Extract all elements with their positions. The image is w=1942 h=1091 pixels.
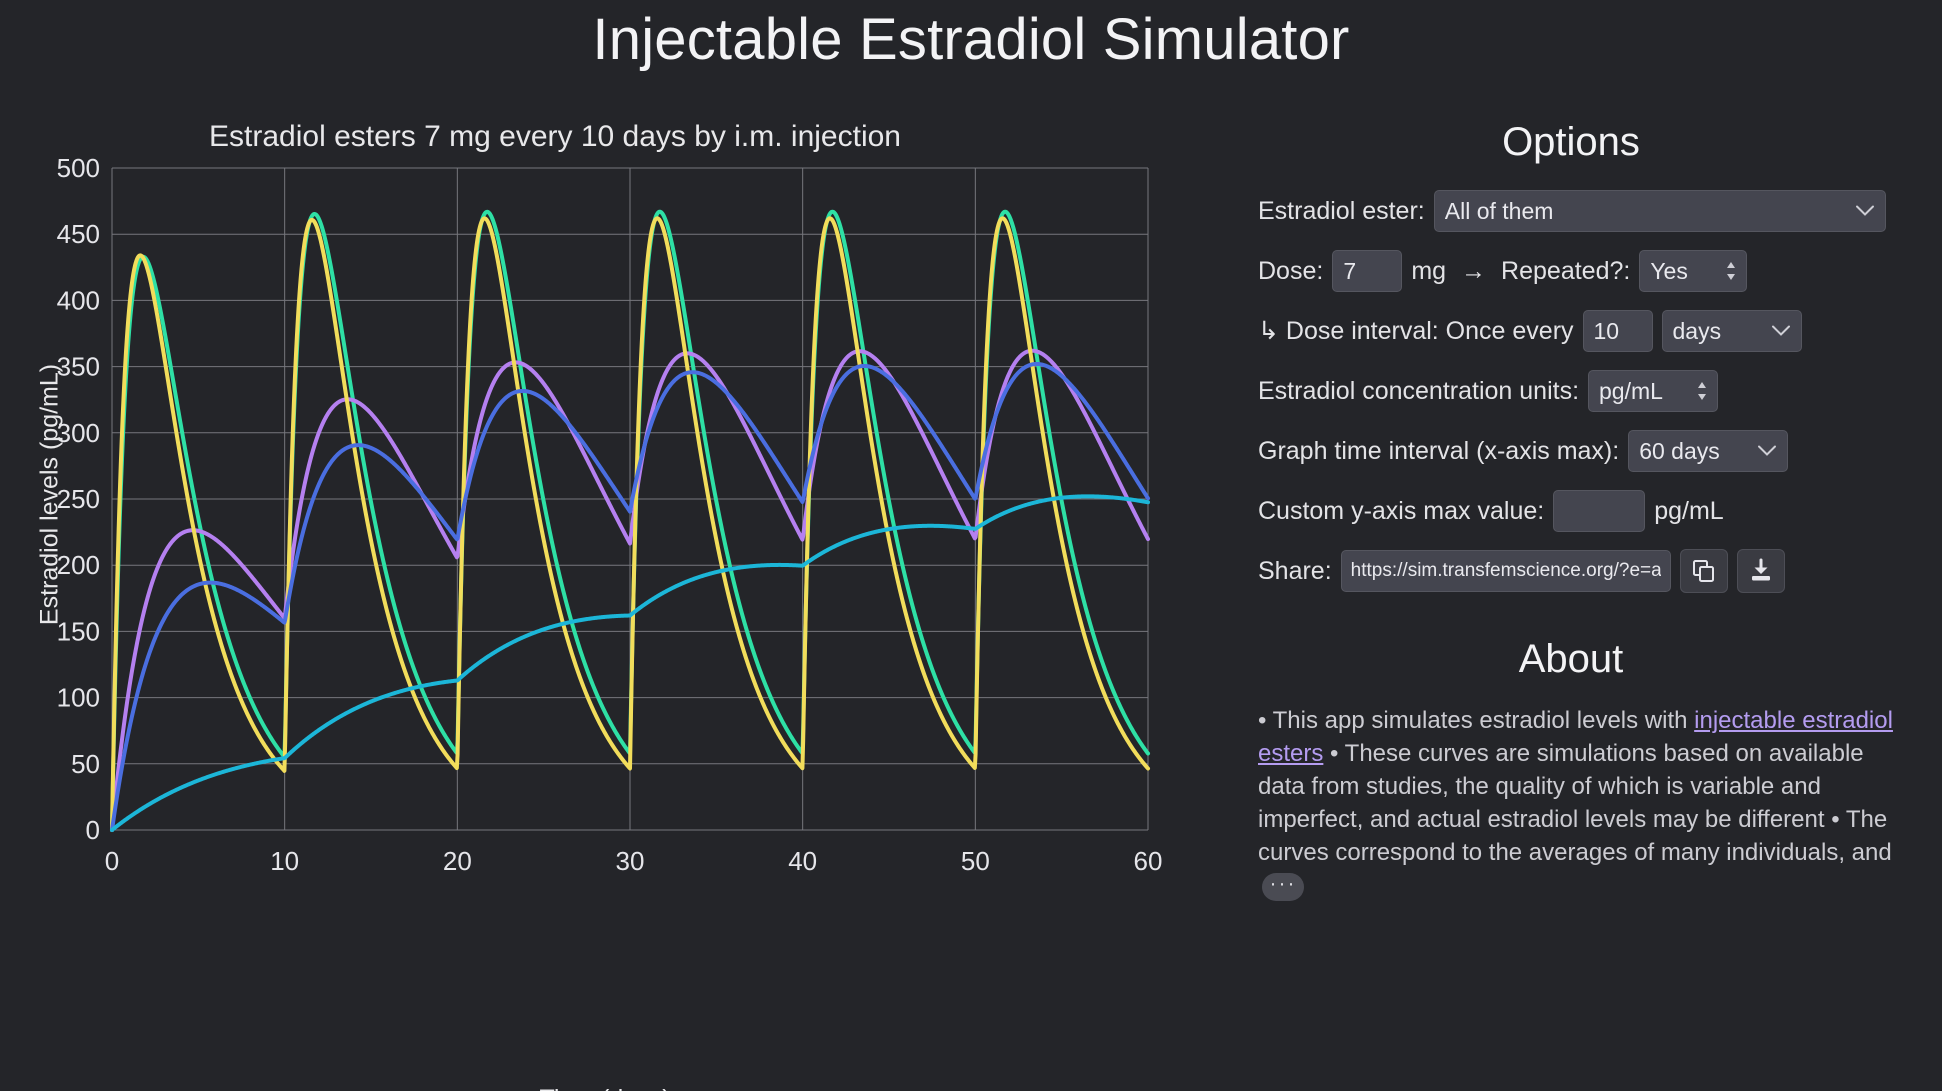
chart-panel: Estradiol esters 7 mg every 10 days by i… <box>0 120 1190 1090</box>
about-heading: About <box>1200 637 1942 682</box>
page-title: Injectable Estradiol Simulator <box>0 6 1942 73</box>
download-icon <box>1748 558 1774 584</box>
share-url-input[interactable] <box>1341 550 1671 592</box>
custom-ymax-label: Custom y-axis max value: <box>1258 497 1544 526</box>
app-root: Injectable Estradiol Simulator Estradiol… <box>0 0 1942 1091</box>
about-text: • This app simulates estradiol levels wi… <box>1200 704 1942 903</box>
time-interval-select[interactable]: 60 days <box>1628 430 1788 472</box>
option-row-custom-ymax: Custom y-axis max value: pg/mL <box>1200 487 1942 535</box>
about-section: About • This app simulates estradiol lev… <box>1200 637 1942 903</box>
option-row-share: Share: <box>1200 547 1942 595</box>
ester-select[interactable]: All of them <box>1434 190 1886 232</box>
options-heading: Options <box>1200 120 1942 165</box>
svg-text:40: 40 <box>788 846 817 876</box>
option-row-units: Estradiol concentration units: pg/mL <box>1200 367 1942 415</box>
y-axis-label: Estradiol levels (pg/mL) <box>36 295 65 695</box>
option-row-dose: Dose: mg → Repeated?: Yes <box>1200 247 1942 295</box>
interval-unit-select-wrap: days <box>1662 310 1802 352</box>
share-label: Share: <box>1258 557 1332 586</box>
dose-input[interactable] <box>1332 250 1402 292</box>
x-axis-label: Time (days) <box>60 1085 1150 1091</box>
custom-ymax-input[interactable] <box>1553 490 1645 532</box>
svg-text:0: 0 <box>105 846 119 876</box>
dose-label: Dose: <box>1258 257 1323 286</box>
repeated-select-wrap: Yes <box>1639 250 1747 292</box>
dose-unit-label: mg <box>1411 257 1446 286</box>
chart-title: Estradiol esters 7 mg every 10 days by i… <box>0 120 1110 154</box>
svg-text:50: 50 <box>961 846 990 876</box>
interval-unit-select[interactable]: days <box>1662 310 1802 352</box>
svg-text:450: 450 <box>57 219 100 249</box>
show-more-button[interactable]: ··· <box>1262 873 1304 901</box>
custom-ymax-unit-label: pg/mL <box>1654 497 1723 526</box>
time-interval-label: Graph time interval (x-axis max): <box>1258 437 1619 466</box>
svg-text:60: 60 <box>1134 846 1163 876</box>
svg-text:50: 50 <box>71 749 100 779</box>
download-image-button[interactable] <box>1737 549 1785 593</box>
option-row-time-interval: Graph time interval (x-axis max): 60 day… <box>1200 427 1942 475</box>
svg-text:20: 20 <box>443 846 472 876</box>
about-text-part2: • These curves are simulations based on … <box>1258 740 1892 866</box>
about-text-part1: • This app simulates estradiol levels wi… <box>1258 707 1694 734</box>
time-interval-select-wrap: 60 days <box>1628 430 1788 472</box>
units-select[interactable]: pg/mL <box>1588 370 1718 412</box>
svg-text:500: 500 <box>57 153 100 183</box>
repeated-select[interactable]: Yes <box>1639 250 1747 292</box>
estradiol-levels-line-chart: 0501001502002503003504004505000102030405… <box>0 150 1190 940</box>
plot-area: 0501001502002503003504004505000102030405… <box>0 150 1190 940</box>
units-select-wrap: pg/mL <box>1588 370 1718 412</box>
arrow-right-icon: → <box>1461 257 1486 286</box>
ester-select-wrap: All of them <box>1434 190 1886 232</box>
copy-share-url-button[interactable] <box>1680 549 1728 593</box>
option-row-dose-interval: ↳ Dose interval: Once every days <box>1200 307 1942 355</box>
dose-interval-label: ↳ Dose interval: Once every <box>1258 316 1574 346</box>
svg-text:10: 10 <box>270 846 299 876</box>
svg-text:30: 30 <box>616 846 645 876</box>
dose-interval-input[interactable] <box>1583 310 1653 352</box>
options-panel: Options Estradiol ester: All of them Dos… <box>1200 120 1942 903</box>
units-label: Estradiol concentration units: <box>1258 377 1579 406</box>
option-row-ester: Estradiol ester: All of them <box>1200 187 1942 235</box>
ester-label: Estradiol ester: <box>1258 197 1425 226</box>
svg-text:0: 0 <box>86 815 100 845</box>
repeated-label: Repeated?: <box>1501 257 1630 286</box>
copy-icon <box>1691 558 1717 584</box>
